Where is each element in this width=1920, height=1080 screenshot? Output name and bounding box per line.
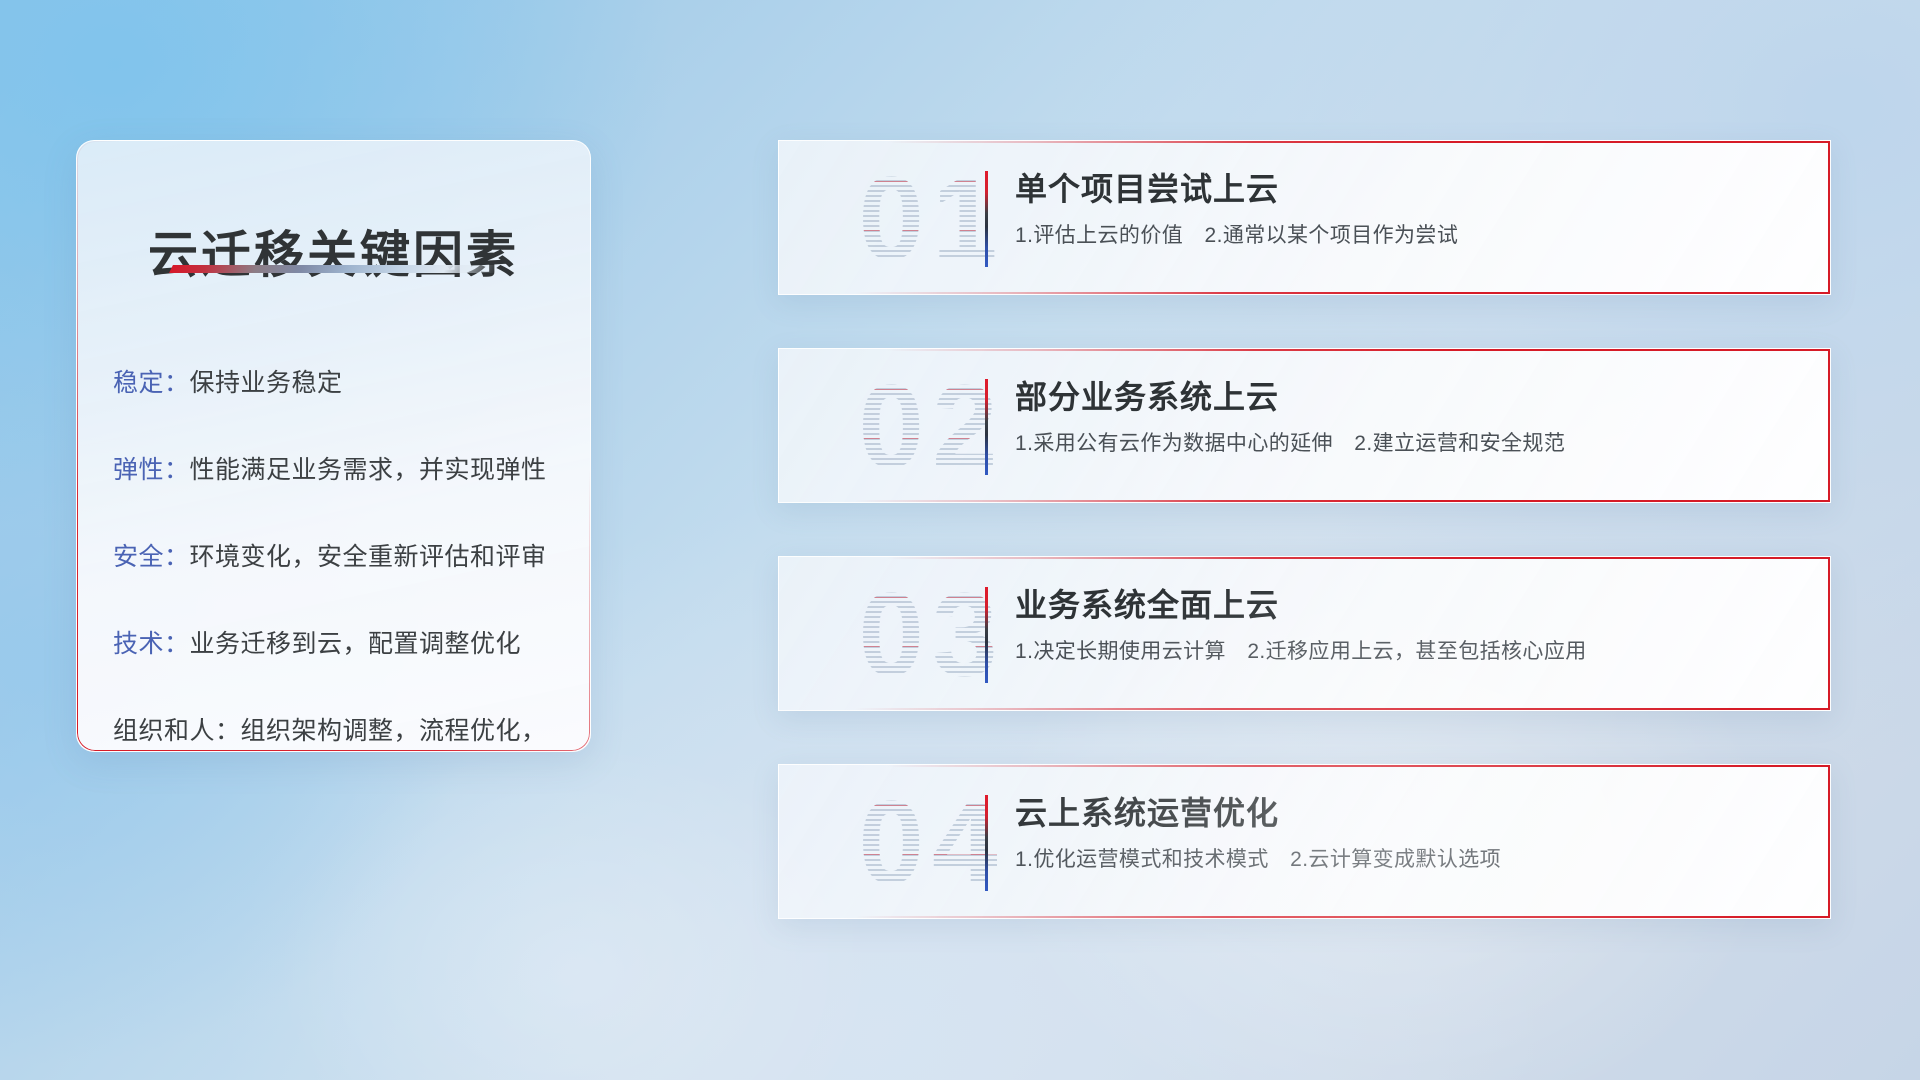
card-title: 业务系统全面上云 <box>1015 583 1802 627</box>
list-item: 安全：环境变化，安全重新评估和评审 <box>113 526 564 588</box>
stage-number-tint: 01 <box>817 155 1047 283</box>
stage-number-tint: 02 <box>817 363 1047 491</box>
stage-number-01: 01 01 <box>817 155 1047 283</box>
card-text-block: 业务系统全面上云 1.决定长期使用云计算 2.迁移应用上云，甚至包括核心应用 <box>1015 583 1802 667</box>
factor-key: 安全： <box>113 543 190 571</box>
stage-number-02: 02 02 <box>817 363 1047 491</box>
stage-number-tint: 03 <box>817 571 1047 699</box>
factors-list: 稳定：保持业务稳定 弹性：性能满足业务需求，并实现弹性 安全：环境变化，安全重新… <box>113 327 564 752</box>
accent-bar-icon <box>985 379 988 475</box>
stage-number-03: 03 03 <box>817 571 1047 699</box>
factor-key: 组织和人： <box>113 717 241 745</box>
factor-desc: 组织架构调整，流程优化， <box>241 717 547 745</box>
list-item: 稳定：保持业务稳定 <box>113 352 564 414</box>
card-title: 部分业务系统上云 <box>1015 375 1802 419</box>
card-subtitle: 1.优化运营模式和技术模式 2.云计算变成默认选项 <box>1015 845 1802 875</box>
card-text-block: 部分业务系统上云 1.采用公有云作为数据中心的延伸 2.建立运营和安全规范 <box>1015 375 1802 459</box>
factor-key: 技术： <box>113 630 190 658</box>
list-item: 弹性：性能满足业务需求，并实现弹性 <box>113 439 564 501</box>
list-item: 技术：业务迁移到云，配置调整优化 <box>113 613 564 675</box>
accent-bar-icon <box>985 171 988 267</box>
slide-canvas: 云迁移关键因素 稳定：保持业务稳定 弹性：性能满足业务需求，并实现弹性 安全：环… <box>0 0 1920 1080</box>
card-text-block: 云上系统运营优化 1.优化运营模式和技术模式 2.云计算变成默认选项 <box>1015 791 1802 875</box>
page-title: 云迁移关键因素 <box>77 215 590 287</box>
list-item: 组织和人：组织架构调整，流程优化， <box>113 700 564 752</box>
card-subtitle: 1.决定长期使用云计算 2.迁移应用上云，甚至包括核心应用 <box>1015 637 1802 667</box>
key-factors-panel: 云迁移关键因素 稳定：保持业务稳定 弹性：性能满足业务需求，并实现弹性 安全：环… <box>76 140 591 752</box>
factor-desc: 业务迁移到云，配置调整优化 <box>190 630 522 658</box>
stage-card-03[interactable]: 03 03 业务系统全面上云 1.决定长期使用云计算 2.迁移应用上云，甚至包括… <box>778 556 1831 711</box>
factor-desc: 保持业务稳定 <box>190 369 343 397</box>
factor-desc: 环境变化，安全重新评估和评审 <box>190 543 547 571</box>
card-title: 云上系统运营优化 <box>1015 791 1802 835</box>
stage-number-04: 04 04 <box>817 779 1047 907</box>
accent-bar-icon <box>985 587 988 683</box>
card-subtitle: 1.采用公有云作为数据中心的延伸 2.建立运营和安全规范 <box>1015 429 1802 459</box>
card-subtitle: 1.评估上云的价值 2.通常以某个项目作为尝试 <box>1015 221 1802 251</box>
factor-key: 稳定： <box>113 369 190 397</box>
title-underline-rule <box>169 265 499 273</box>
stage-card-01[interactable]: 01 01 单个项目尝试上云 1.评估上云的价值 2.通常以某个项目作为尝试 <box>778 140 1831 295</box>
accent-bar-icon <box>985 795 988 891</box>
factor-key: 弹性： <box>113 456 190 484</box>
card-text-block: 单个项目尝试上云 1.评估上云的价值 2.通常以某个项目作为尝试 <box>1015 167 1802 251</box>
factor-desc: 性能满足业务需求，并实现弹性 <box>190 456 547 484</box>
stage-number-tint: 04 <box>817 779 1047 907</box>
card-title: 单个项目尝试上云 <box>1015 167 1802 211</box>
stage-card-02[interactable]: 02 02 部分业务系统上云 1.采用公有云作为数据中心的延伸 2.建立运营和安… <box>778 348 1831 503</box>
stage-card-04[interactable]: 04 04 云上系统运营优化 1.优化运营模式和技术模式 2.云计算变成默认选项 <box>778 764 1831 919</box>
